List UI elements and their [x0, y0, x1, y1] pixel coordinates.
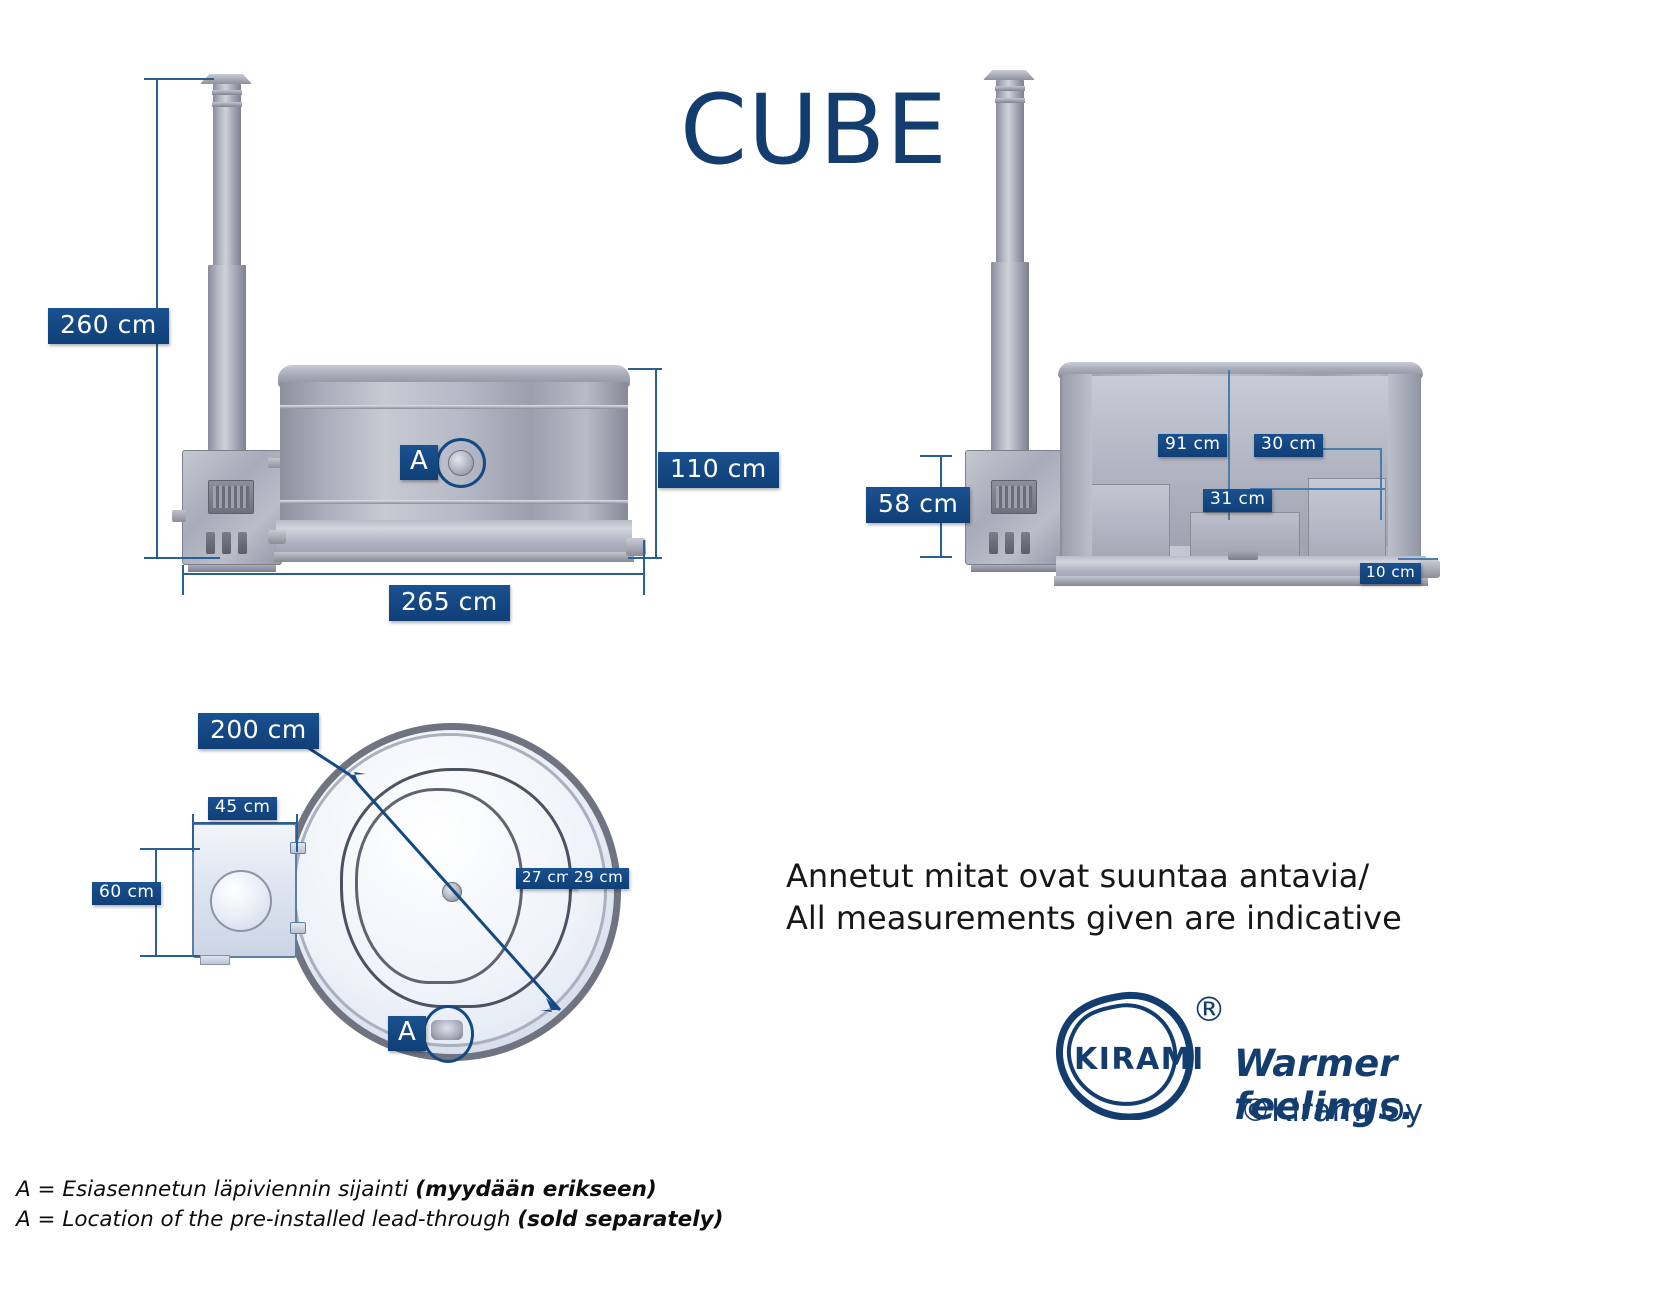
heater-fitting-top-plan	[290, 842, 306, 854]
plan-view: A	[100, 700, 660, 1100]
heater-vent	[1005, 532, 1014, 554]
dimension-seat-width-outer: 29 cm	[568, 868, 629, 889]
dimension-heater-width: 45 cm	[208, 797, 277, 820]
tub-base-trim	[274, 552, 634, 562]
dimline-heater-width-left-tick	[192, 814, 194, 852]
chimney-band	[212, 102, 242, 107]
indicative-note-fi: Annetut mitat ovat suuntaa antavia/	[786, 855, 1486, 897]
dimension-diameter: 200 cm	[198, 713, 319, 749]
heater-vent	[1021, 532, 1030, 554]
brand-block: KIRAMI ® Warmer feelings. ©Kirami Oy	[1044, 990, 1564, 1135]
tub-wall-left-cut	[1062, 374, 1092, 562]
dimline-heater-width	[192, 822, 298, 824]
tub-inlet-fitting	[268, 530, 286, 544]
heater-vent	[206, 532, 215, 554]
heater-vent	[222, 532, 231, 554]
dimension-tub-height: 110 cm	[658, 452, 779, 488]
dimline-height-total-top-tick	[144, 78, 214, 80]
dimline-tub-height	[655, 368, 657, 558]
drawing-canvas: CUBE A 260 cm 1	[0, 0, 1660, 1294]
dimension-heater-depth: 60 cm	[92, 882, 161, 905]
heater-door-grille	[996, 486, 1032, 508]
front-elevation-view: A	[150, 60, 670, 580]
dimline-base-height	[1398, 558, 1438, 560]
seat-ledge-right	[1308, 478, 1386, 562]
dimline-tub-height-bottom-tick	[628, 557, 662, 559]
dimline-heater-height-bottom-tick	[920, 556, 952, 558]
legend-finnish-text: A = Esiasennetun läpiviennin sijainti	[16, 1177, 415, 1202]
lead-through-center-plan	[442, 882, 462, 902]
chimney-lower-pipe	[208, 265, 246, 455]
dimline-heater-depth-top-tick	[140, 848, 200, 850]
chimney-lower-pipe	[991, 262, 1029, 454]
dimline-total-width	[182, 573, 644, 575]
callout-ring-a	[436, 438, 486, 488]
brand-copyright: ©Kirami Oy	[1240, 1093, 1423, 1129]
callout-label-a-front: A	[400, 445, 438, 480]
tub-bottom-drain	[1228, 550, 1258, 560]
dimension-seat-height: 31 cm	[1203, 489, 1272, 512]
heater-bracket-plan	[200, 955, 230, 965]
heater-door-grille	[213, 486, 249, 508]
chimney-band	[212, 90, 242, 95]
dimension-seat-depth: 30 cm	[1254, 434, 1323, 457]
chimney-band	[995, 86, 1025, 91]
chimney-upper-pipe	[996, 80, 1024, 266]
indicative-note: Annetut mitat ovat suuntaa antavia/ All …	[786, 855, 1486, 939]
registered-trademark-icon: ®	[1192, 990, 1226, 1030]
dimension-heater-height: 58 cm	[866, 487, 970, 523]
seat-outline-inner	[355, 788, 523, 984]
dimline-total-width-right-tick	[643, 540, 645, 595]
dimension-base-height: 10 cm	[1360, 563, 1421, 584]
indicative-note-en: All measurements given are indicative	[786, 897, 1486, 939]
chimney-band	[995, 98, 1025, 103]
dimline-height-total-bottom-tick	[144, 557, 220, 559]
brand-wordmark: KIRAMI	[1074, 1042, 1205, 1077]
legend-finnish-bold: (myydään erikseen)	[415, 1177, 656, 1202]
heater-leg	[188, 565, 276, 572]
legend-english-text: A = Location of the pre-installed lead-t…	[16, 1207, 517, 1232]
tub-wall-right-cut	[1388, 374, 1420, 562]
dimline-heater-depth-bottom-tick	[140, 955, 200, 957]
dimline-heater-width-right-tick	[296, 814, 298, 852]
legend-english-bold: (sold separately)	[517, 1207, 723, 1232]
callout-label-a-plan: A	[388, 1016, 426, 1051]
tub-drain-fitting	[1418, 560, 1440, 578]
dimension-height-total: 260 cm	[48, 308, 169, 344]
dimension-total-width: 265 cm	[389, 585, 510, 621]
legend-english: A = Location of the pre-installed lead-t…	[16, 1207, 723, 1232]
heater-door-plan	[210, 870, 272, 932]
dimension-inner-width: 91 cm	[1158, 434, 1227, 457]
heater-vent	[238, 532, 247, 554]
heater-leg	[971, 565, 1059, 572]
dimline-heater-height-top-tick	[920, 455, 952, 457]
chimney-cap-icon	[983, 70, 1035, 80]
tub-upper-band	[280, 405, 628, 409]
heater-fitting-bottom-plan	[290, 922, 306, 934]
heater-side-pipe	[172, 510, 186, 522]
tub-lower-band	[280, 500, 628, 504]
dimline-seat-depth-tick	[1380, 448, 1382, 520]
heater-vent	[989, 532, 998, 554]
legend-finnish: A = Esiasennetun läpiviennin sijainti (m…	[16, 1177, 657, 1202]
dimline-total-width-left-tick	[182, 565, 184, 595]
dimline-tub-height-top-tick	[628, 368, 662, 370]
chimney-upper-pipe	[213, 84, 241, 270]
callout-ring-a-plan	[422, 1005, 474, 1063]
